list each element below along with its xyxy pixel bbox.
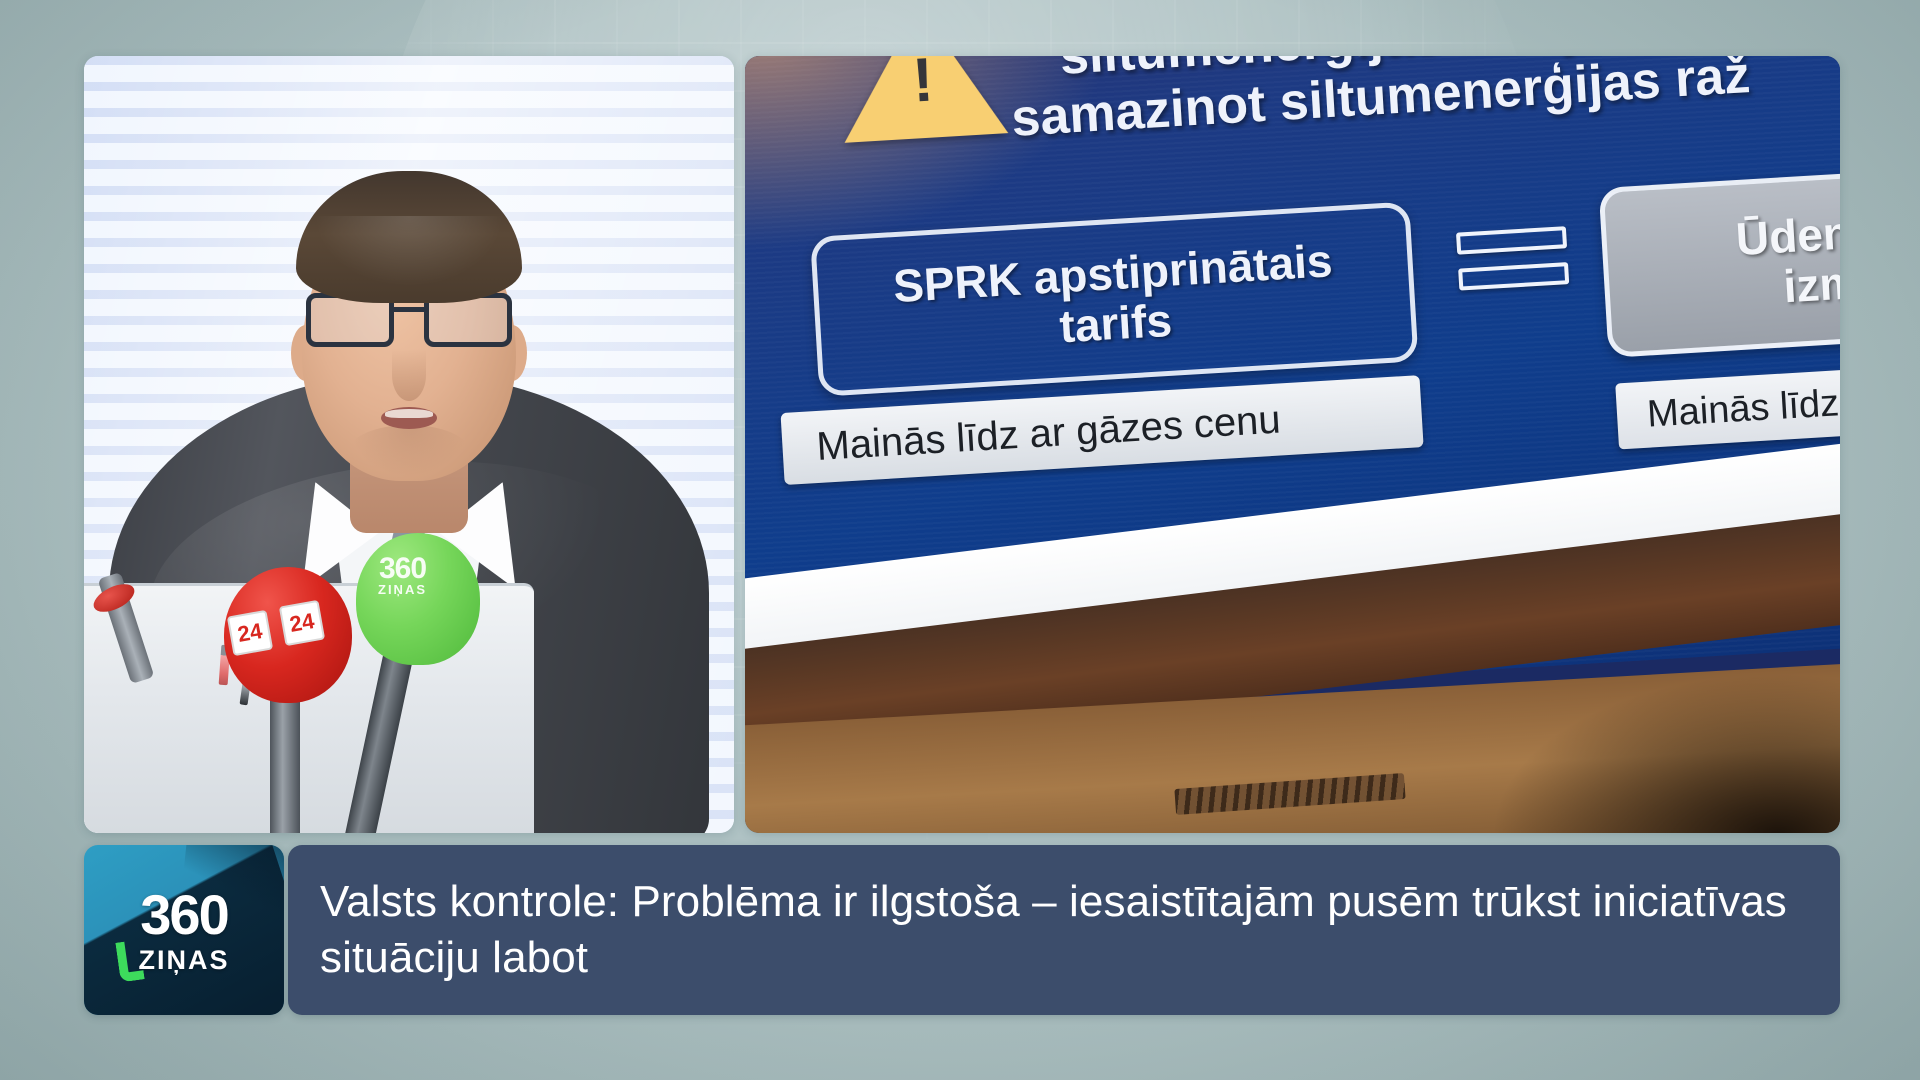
nose (392, 349, 426, 401)
mic-badge-24-right: 24 (279, 600, 325, 646)
broadcast-stage: 24 24 360 ZIŅAS ! enerģijas realizācijas… (0, 0, 1920, 1080)
microphone-24: 24 24 (224, 567, 352, 703)
channel-logo-secondary: ZIŅAS (139, 947, 230, 974)
lower-third-headline-bar: Valsts kontrole: Problēma ir ilgstoša – … (288, 845, 1840, 1015)
microphone-360-zinas: 360 ZIŅAS (356, 533, 480, 665)
channel-logo-text: 360 ZIŅAS (84, 845, 284, 1015)
mic-logo-360: 360 ZIŅAS (378, 555, 427, 596)
mic-logo-primary: 360 (379, 552, 426, 585)
channel-logo-tile: 360 ZIŅAS (84, 845, 284, 1015)
mouth (381, 407, 437, 429)
presentation-slide: ! enerģijas realizācijas i siltumenerģij… (745, 56, 1840, 715)
left-photo-panel: 24 24 360 ZIŅAS (84, 56, 734, 833)
right-photo-panel: ! enerģijas realizācijas i siltumenerģij… (745, 56, 1840, 833)
equals-bar-bottom (1458, 262, 1569, 290)
headline-text: Valsts kontrole: Problēma ir ilgstoša – … (288, 874, 1840, 987)
chin-shadow (349, 425, 469, 477)
microphone-360-windscreen: 360 ZIŅAS (356, 533, 480, 665)
hair (296, 171, 522, 303)
glasses-bridge (394, 307, 424, 312)
microphone-24-windscreen: 24 24 (224, 567, 352, 703)
corner-shadow (1490, 673, 1840, 833)
mic-badge-24-left: 24 (227, 610, 273, 656)
slide-box-water-heater-title: Ūdenssil (1735, 204, 1840, 265)
mic-logo-secondary: ZIŅAS (378, 584, 427, 596)
microphone-24-stand (270, 687, 300, 833)
slide-box-water-heater: Ūdenssil izma (1599, 161, 1840, 358)
channel-logo-primary: 360 (140, 887, 227, 943)
equals-icon (1456, 226, 1570, 304)
warning-exclamation-glyph: ! (839, 56, 1006, 117)
